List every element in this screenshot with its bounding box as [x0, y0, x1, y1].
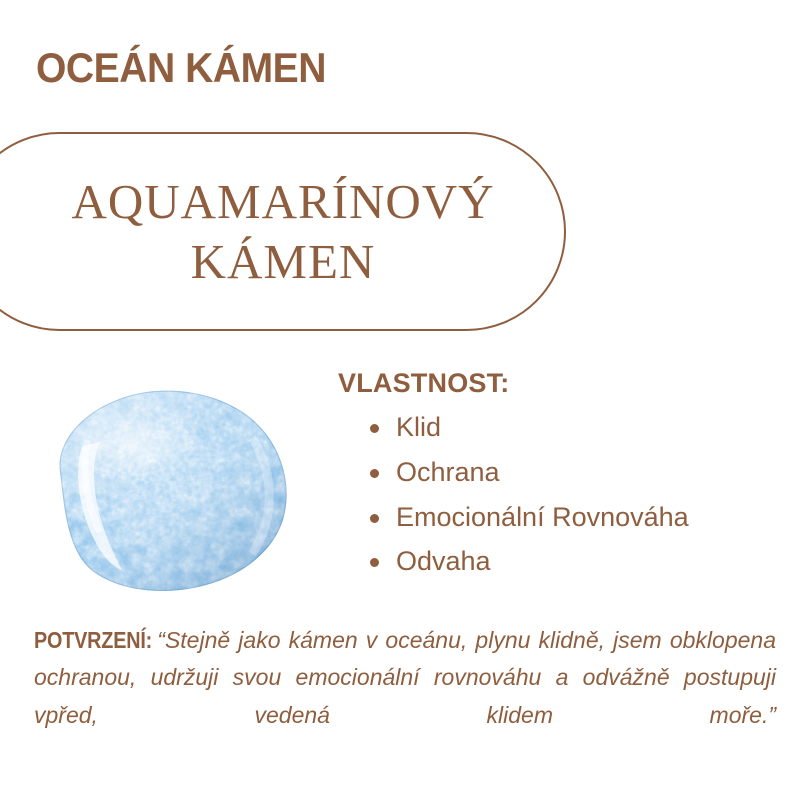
affirmation-section: POTVRZENÍ:“Stejně jako kámen v oceánu, p… [34, 622, 776, 771]
properties-heading: VLASTNOST: [338, 368, 778, 399]
list-item: Emocionální Rovnováha [368, 495, 778, 540]
page-title: OCEÁN KÁMEN [36, 44, 326, 92]
stone-name-banner-inner: AQUAMARÍNOVÝ KÁMEN [13, 172, 553, 292]
aquamarine-stone-image [38, 386, 294, 596]
stone-name-line-1: AQUAMARÍNOVÝ [13, 172, 553, 232]
properties-list: Klid Ochrana Emocionální Rovnováha Odvah… [338, 405, 778, 584]
affirmation-label: POTVRZENÍ: [34, 622, 152, 659]
stone-name-banner: AQUAMARÍNOVÝ KÁMEN [0, 132, 566, 331]
list-item: Ochrana [368, 450, 778, 495]
stone-body [38, 386, 294, 596]
stone-name-line-2: KÁMEN [13, 232, 553, 292]
list-item: Klid [368, 405, 778, 450]
properties-section: VLASTNOST: Klid Ochrana Emocionální Rovn… [338, 368, 778, 584]
list-item: Odvaha [368, 539, 778, 584]
stone-info-card: OCEÁN KÁMEN AQUAMARÍNOVÝ KÁMEN [0, 0, 800, 800]
